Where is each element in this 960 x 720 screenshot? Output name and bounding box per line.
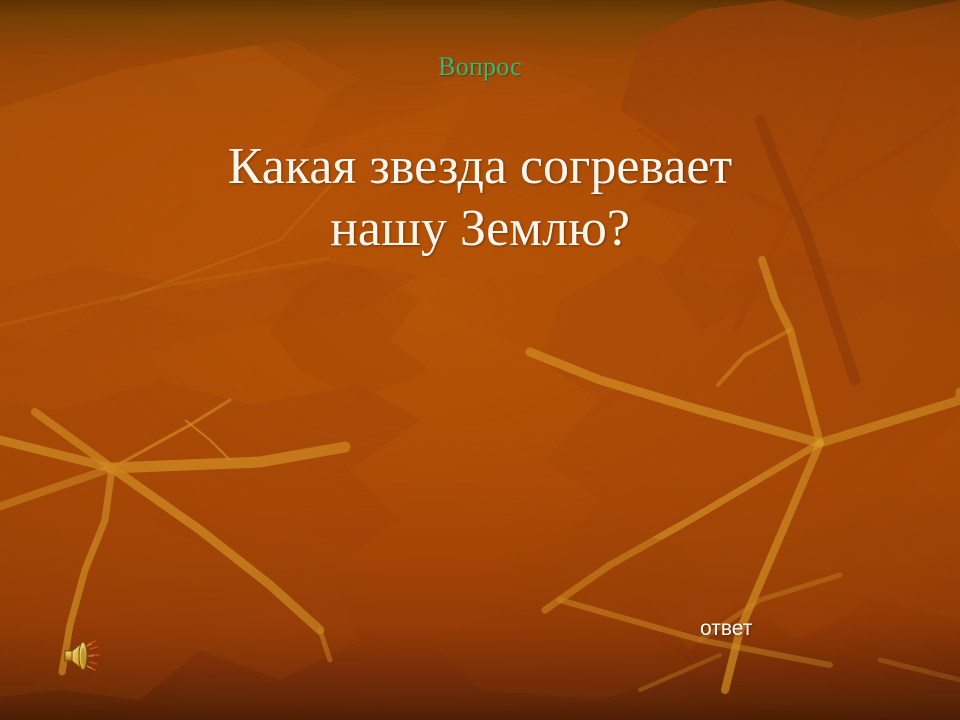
question-text: Какая звезда согревает нашу Землю? [90, 136, 870, 260]
answer-link[interactable]: ответ [700, 617, 752, 641]
presentation-slide: Вопрос Какая звезда согревает нашу Землю… [0, 0, 960, 720]
page-title: Вопрос [0, 52, 960, 82]
speaker-sound-icon[interactable] [62, 638, 106, 674]
